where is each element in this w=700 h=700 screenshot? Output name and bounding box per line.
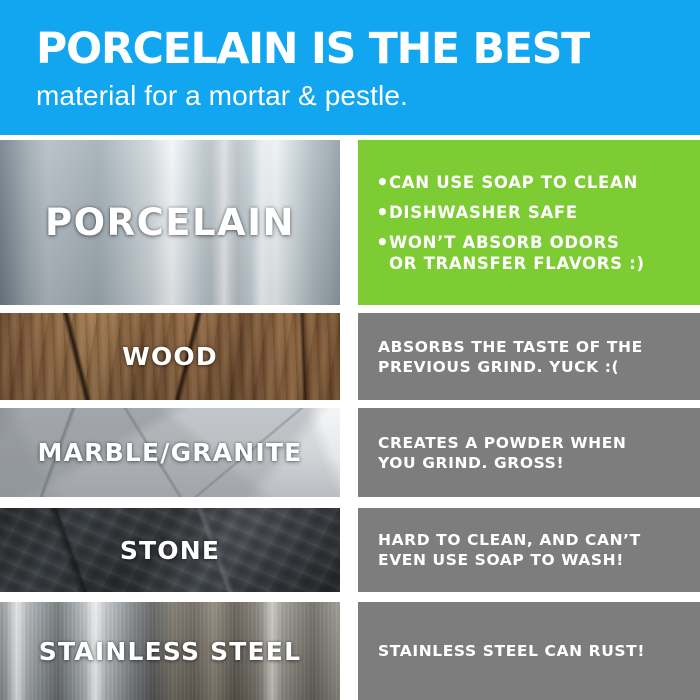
material-image-wood: WOOD	[0, 313, 340, 400]
comparison-row-stainless-steel: STAINLESS STEEL STAINLESS STEEL CAN RUST…	[0, 602, 700, 700]
drawback-panel-marble-granite: CREATES A POWDER WHEN YOU GRIND. GROSS!	[358, 408, 700, 497]
drawback-panel-wood: ABSORBS THE TASTE OF THE PREVIOUS GRIND.…	[358, 313, 700, 400]
drawback-text: ABSORBS THE TASTE OF THE PREVIOUS GRIND.…	[378, 337, 684, 377]
drawback-text: CREATES A POWDER WHEN YOU GRIND. GROSS!	[378, 433, 684, 473]
material-label-marble-granite: MARBLE/GRANITE	[0, 408, 340, 497]
list-item: • DISHWASHER SAFE	[376, 202, 686, 223]
list-item: • CAN USE SOAP TO CLEAN	[376, 172, 686, 193]
benefit-text: WON’T ABSORB ODORS OR TRANSFER FLAVORS :…	[389, 232, 686, 274]
infographic-page: PORCELAIN IS THE BEST material for a mor…	[0, 0, 700, 700]
material-label-stainless-steel: STAINLESS STEEL	[0, 602, 340, 700]
gray-panel: STAINLESS STEEL CAN RUST!	[358, 602, 700, 700]
list-item: • WON’T ABSORB ODORS OR TRANSFER FLAVORS…	[376, 232, 686, 274]
comparison-row-wood: WOOD ABSORBS THE TASTE OF THE PREVIOUS G…	[0, 313, 700, 400]
green-panel: • CAN USE SOAP TO CLEAN • DISHWASHER SAF…	[358, 140, 700, 305]
gray-panel: CREATES A POWDER WHEN YOU GRIND. GROSS!	[358, 408, 700, 497]
comparison-row-stone: STONE HARD TO CLEAN, AND CAN’T EVEN USE …	[0, 508, 700, 592]
drawback-text: STAINLESS STEEL CAN RUST!	[378, 641, 684, 661]
header-banner: PORCELAIN IS THE BEST material for a mor…	[0, 0, 700, 135]
material-image-marble-granite: MARBLE/GRANITE	[0, 408, 340, 497]
material-image-stainless-steel: STAINLESS STEEL	[0, 602, 340, 700]
benefit-text: DISHWASHER SAFE	[389, 202, 686, 223]
comparison-row-marble-granite: MARBLE/GRANITE CREATES A POWDER WHEN YOU…	[0, 408, 700, 497]
comparison-grid: PORCELAIN • CAN USE SOAP TO CLEAN • DISH…	[0, 135, 700, 700]
benefits-panel-porcelain: • CAN USE SOAP TO CLEAN • DISHWASHER SAF…	[358, 140, 700, 305]
material-image-porcelain: PORCELAIN	[0, 140, 340, 305]
material-label-stone: STONE	[0, 508, 340, 592]
bullet-dot-icon: •	[376, 202, 389, 222]
material-label-porcelain: PORCELAIN	[0, 140, 340, 305]
material-label-wood: WOOD	[0, 313, 340, 400]
material-image-stone: STONE	[0, 508, 340, 592]
comparison-row-porcelain: PORCELAIN • CAN USE SOAP TO CLEAN • DISH…	[0, 140, 700, 305]
bullet-dot-icon: •	[376, 172, 389, 192]
gray-panel: HARD TO CLEAN, AND CAN’T EVEN USE SOAP T…	[358, 508, 700, 592]
page-title: PORCELAIN IS THE BEST	[36, 26, 693, 72]
benefit-text: CAN USE SOAP TO CLEAN	[389, 172, 686, 193]
drawback-panel-stone: HARD TO CLEAN, AND CAN’T EVEN USE SOAP T…	[358, 508, 700, 592]
benefit-list: • CAN USE SOAP TO CLEAN • DISHWASHER SAF…	[376, 163, 686, 283]
bullet-dot-icon: •	[376, 232, 389, 252]
drawback-text: HARD TO CLEAN, AND CAN’T EVEN USE SOAP T…	[378, 530, 684, 570]
page-subtitle: material for a mortar & pestle.	[36, 78, 700, 114]
drawback-panel-stainless-steel: STAINLESS STEEL CAN RUST!	[358, 602, 700, 700]
gray-panel: ABSORBS THE TASTE OF THE PREVIOUS GRIND.…	[358, 313, 700, 400]
